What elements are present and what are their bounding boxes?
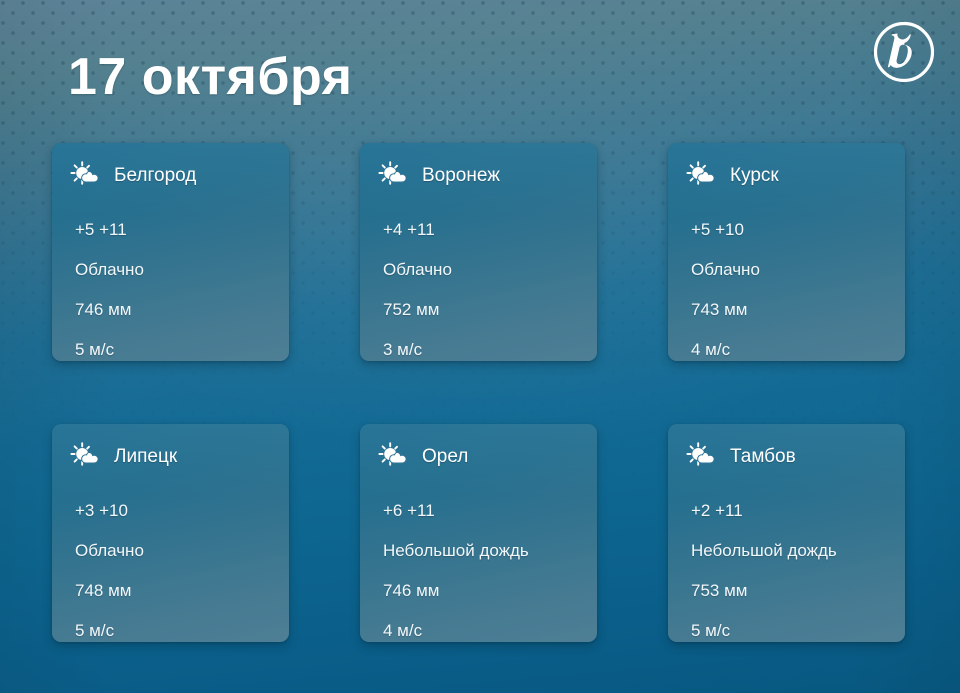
- card-details: +2 +11 Небольшой дождь 753 мм 5 м/с: [691, 491, 895, 642]
- condition-text: Облачно: [691, 250, 895, 290]
- wind-value: 5 м/с: [75, 611, 279, 642]
- city-name: Тамбов: [730, 446, 796, 468]
- page-title: 17 октября: [68, 50, 352, 105]
- card-header: Белгород: [70, 160, 196, 192]
- card-header: Орел: [378, 441, 468, 473]
- weather-card[interactable]: Орел +6 +11 Небольшой дождь 746 мм 4 м/с: [360, 424, 597, 642]
- temperature-range: +5 +11: [75, 210, 279, 250]
- weather-card[interactable]: Липецк +3 +10 Облачно 748 мм 5 м/с: [52, 424, 289, 642]
- sun-behind-cloud-icon: [70, 442, 104, 472]
- temperature-range: +3 +10: [75, 491, 279, 531]
- card-details: +3 +10 Облачно 748 мм 5 м/с: [75, 491, 279, 642]
- condition-text: Облачно: [383, 250, 587, 290]
- card-header: Воронеж: [378, 160, 500, 192]
- card-details: +5 +11 Облачно 746 мм 5 м/с: [75, 210, 279, 361]
- weather-card-grid: Белгород +5 +11 Облачно 746 мм 5 м/с: [52, 143, 908, 642]
- pressure-value: 753 мм: [691, 571, 895, 611]
- sun-behind-cloud-icon: [686, 161, 720, 191]
- card-details: +6 +11 Небольшой дождь 746 мм 4 м/с: [383, 491, 587, 642]
- city-name: Липецк: [114, 446, 177, 468]
- kommersant-logo: [872, 20, 936, 84]
- sun-behind-cloud-icon: [70, 161, 104, 191]
- wind-value: 4 м/с: [383, 611, 587, 642]
- condition-text: Облачно: [75, 531, 279, 571]
- sun-behind-cloud-icon: [378, 161, 412, 191]
- sun-behind-cloud-icon: [686, 442, 720, 472]
- pressure-value: 748 мм: [75, 571, 279, 611]
- sun-behind-cloud-icon: [378, 442, 412, 472]
- wind-value: 4 м/с: [691, 330, 895, 361]
- pressure-value: 743 мм: [691, 290, 895, 330]
- wind-value: 5 м/с: [75, 330, 279, 361]
- wind-value: 5 м/с: [691, 611, 895, 642]
- condition-text: Небольшой дождь: [383, 531, 587, 571]
- temperature-range: +2 +11: [691, 491, 895, 531]
- condition-text: Облачно: [75, 250, 279, 290]
- card-details: +4 +11 Облачно 752 мм 3 м/с: [383, 210, 587, 361]
- card-header: Курск: [686, 160, 779, 192]
- card-details: +5 +10 Облачно 743 мм 4 м/с: [691, 210, 895, 361]
- city-name: Курск: [730, 165, 779, 187]
- card-header: Липецк: [70, 441, 177, 473]
- pressure-value: 752 мм: [383, 290, 587, 330]
- city-name: Белгород: [114, 165, 196, 187]
- temperature-range: +5 +10: [691, 210, 895, 250]
- weather-card[interactable]: Курск +5 +10 Облачно 743 мм 4 м/с: [668, 143, 905, 361]
- weather-card[interactable]: Белгород +5 +11 Облачно 746 мм 5 м/с: [52, 143, 289, 361]
- city-name: Орел: [422, 446, 468, 468]
- weather-card[interactable]: Тамбов +2 +11 Небольшой дождь 753 мм 5 м…: [668, 424, 905, 642]
- wind-value: 3 м/с: [383, 330, 587, 361]
- pressure-value: 746 мм: [75, 290, 279, 330]
- weather-card[interactable]: Воронеж +4 +11 Облачно 752 мм 3 м/с: [360, 143, 597, 361]
- weather-poster: 17 октября: [0, 0, 960, 693]
- pressure-value: 746 мм: [383, 571, 587, 611]
- city-name: Воронеж: [422, 165, 500, 187]
- condition-text: Небольшой дождь: [691, 531, 895, 571]
- temperature-range: +6 +11: [383, 491, 587, 531]
- temperature-range: +4 +11: [383, 210, 587, 250]
- card-header: Тамбов: [686, 441, 796, 473]
